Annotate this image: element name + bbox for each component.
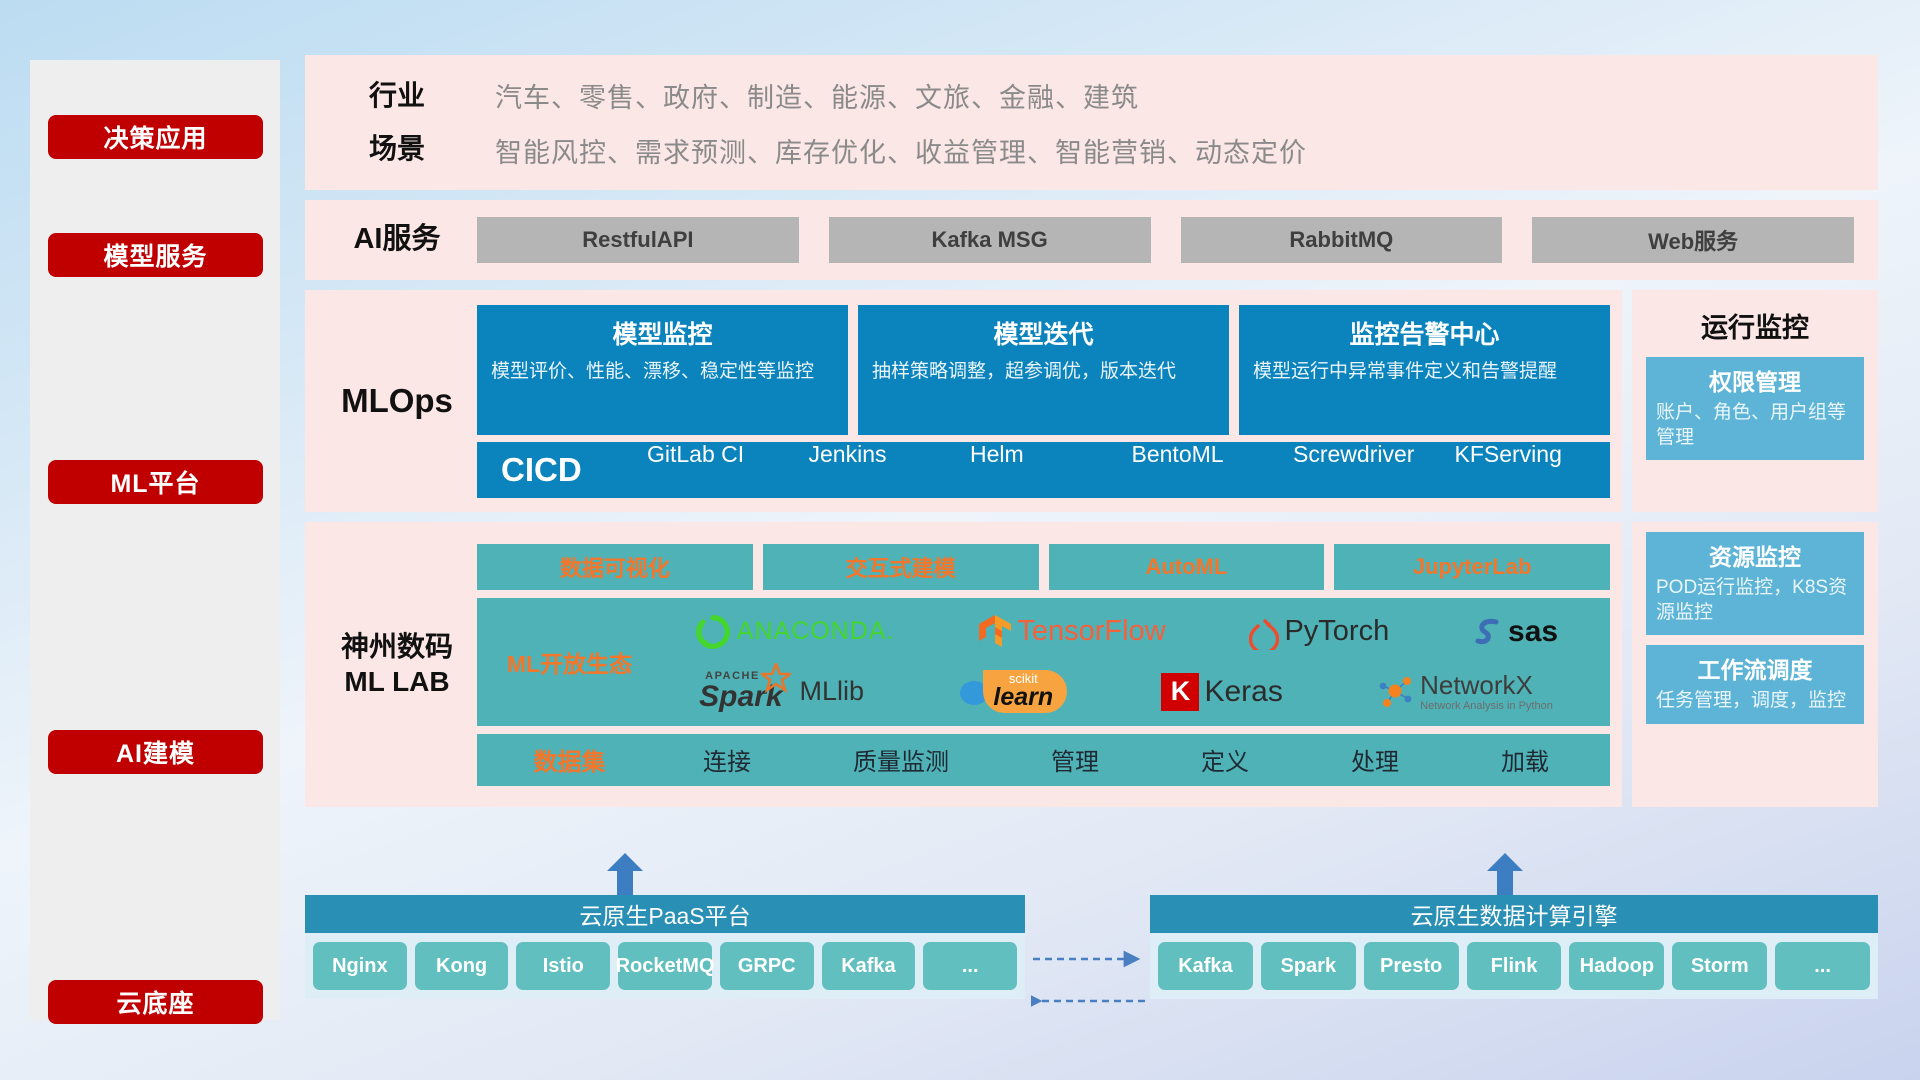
tool-chip-jupyterlab[interactable]: JupyterLab bbox=[1334, 544, 1610, 590]
dataset-item-load[interactable]: 加载 bbox=[1501, 742, 1549, 777]
ai-chip-web-service[interactable]: Web服务 bbox=[1532, 217, 1854, 263]
tool-chip-data-visualization[interactable]: 数据可视化 bbox=[477, 544, 753, 590]
monitoring-panel: 运行监控 权限管理 账户、角色、用户组等管理 bbox=[1632, 290, 1878, 512]
sas-wordmark: sas bbox=[1508, 615, 1558, 649]
industry-scenario-labels: 行业 场景 bbox=[317, 79, 477, 166]
arrow-up-to-platform-icon bbox=[1485, 853, 1525, 897]
ai-service-band: AI服务 RestfulAPI Kafka MSG RabbitMQ Web服务 bbox=[305, 200, 1878, 280]
ml-logo-line-2: APACHE Spark MLlib bbox=[652, 663, 1600, 721]
rail-chip-cloud-base[interactable]: 云底座 bbox=[48, 980, 263, 1024]
tensorflow-logo: TensorFlow bbox=[978, 613, 1165, 651]
cloud-chip-kong[interactable]: Kong bbox=[415, 942, 509, 990]
ml-ecosystem-row: ML开放生态 ANACONDA. bbox=[477, 598, 1610, 726]
cloud-chip-spark[interactable]: Spark bbox=[1261, 942, 1356, 990]
industry-value: 汽车、零售、政府、制造、能源、文旅、金融、建筑 bbox=[495, 76, 1866, 115]
anaconda-logo: ANACONDA. bbox=[694, 613, 895, 651]
mlops-card-desc: 抽样策略调整，超参调优，版本迭代 bbox=[872, 359, 1215, 384]
monitoring-card-workflow[interactable]: 工作流调度 任务管理，调度，监控 bbox=[1646, 645, 1864, 724]
mlops-card-alert-center[interactable]: 监控告警中心 模型运行中异常事件定义和告警提醒 bbox=[1239, 305, 1610, 435]
mlops-card-desc: 模型评价、性能、漂移、稳定性等监控 bbox=[491, 359, 834, 384]
keras-wordmark: Keras bbox=[1204, 675, 1282, 709]
dataset-row: 数据集 连接 质量监测 管理 定义 处理 加载 bbox=[477, 734, 1610, 786]
networkx-graph-icon bbox=[1377, 674, 1415, 710]
sas-logo: sas bbox=[1473, 615, 1558, 649]
cloud-chip-more[interactable]: ... bbox=[923, 942, 1017, 990]
mlops-card-title: 模型监控 bbox=[491, 315, 834, 351]
spark-mllib-logo: APACHE Spark MLlib bbox=[699, 671, 864, 712]
monitoring-card-title: 权限管理 bbox=[1656, 363, 1854, 397]
modeling-label: 神州数码 ML LAB bbox=[317, 630, 477, 699]
mllib-wordmark: MLlib bbox=[800, 676, 865, 707]
cicd-item-jenkins[interactable]: Jenkins bbox=[803, 442, 965, 498]
cloud-data-engine-chip-list: Kafka Spark Presto Flink Hadoop Storm ..… bbox=[1150, 933, 1878, 999]
industry-scenario-values: 汽车、零售、政府、制造、能源、文旅、金融、建筑 智能风控、需求预测、库存优化、收… bbox=[477, 76, 1866, 170]
dataset-label: 数据集 bbox=[487, 742, 652, 777]
ai-chip-restfulapi[interactable]: RestfulAPI bbox=[477, 217, 799, 263]
scenario-value: 智能风控、需求预测、库存优化、收益管理、智能营销、动态定价 bbox=[495, 131, 1866, 170]
anaconda-wordmark: ANACONDA. bbox=[737, 617, 895, 646]
monitoring-card-title: 工作流调度 bbox=[1656, 651, 1854, 685]
dataset-item-process[interactable]: 处理 bbox=[1351, 742, 1399, 777]
cicd-item-helm[interactable]: Helm bbox=[964, 442, 1126, 498]
cloud-chip-kafka-data[interactable]: Kafka bbox=[1158, 942, 1253, 990]
pytorch-wordmark: PyTorch bbox=[1284, 615, 1389, 648]
cicd-item-screwdriver[interactable]: Screwdriver bbox=[1287, 442, 1449, 498]
cloud-data-engine-title: 云原生数据计算引擎 bbox=[1150, 895, 1878, 933]
keras-mark-icon: K bbox=[1161, 673, 1199, 711]
cloud-data-engine-group: 云原生数据计算引擎 Kafka Spark Presto Flink Hadoo… bbox=[1150, 895, 1878, 999]
tensorflow-icon bbox=[978, 613, 1012, 651]
mlops-label: MLOps bbox=[317, 381, 477, 422]
rail-chip-ml-platform[interactable]: ML平台 bbox=[48, 460, 263, 504]
mlops-row: MLOps 模型监控 模型评价、性能、漂移、稳定性等监控 模型迭代 抽样策略调整… bbox=[305, 290, 1878, 512]
cloud-paas-title: 云原生PaaS平台 bbox=[305, 895, 1025, 933]
cicd-bar: CICD GitLab CI Jenkins Helm BentoML Scre… bbox=[477, 442, 1610, 498]
bidirectional-dashed-connector bbox=[1031, 947, 1147, 1013]
ai-service-chip-list: RestfulAPI Kafka MSG RabbitMQ Web服务 bbox=[477, 217, 1866, 263]
cloud-chip-storm[interactable]: Storm bbox=[1672, 942, 1767, 990]
ai-service-label: AI服务 bbox=[317, 222, 477, 258]
industry-scenario-band: 行业 场景 汽车、零售、政府、制造、能源、文旅、金融、建筑 智能风控、需求预测、… bbox=[305, 55, 1878, 190]
cloud-chip-kafka[interactable]: Kafka bbox=[822, 942, 916, 990]
modeling-label-line2: ML LAB bbox=[317, 665, 477, 700]
dataset-item-connect[interactable]: 连接 bbox=[703, 742, 751, 777]
dataset-item-list: 连接 质量监测 管理 定义 处理 加载 bbox=[652, 742, 1600, 777]
tool-chip-automl[interactable]: AutoML bbox=[1049, 544, 1325, 590]
monitoring-card-resource[interactable]: 资源监控 POD运行监控，K8S资源监控 bbox=[1646, 532, 1864, 635]
architecture-main: 行业 场景 汽车、零售、政府、制造、能源、文旅、金融、建筑 智能风控、需求预测、… bbox=[305, 55, 1878, 807]
monitoring-title: 运行监控 bbox=[1646, 300, 1864, 347]
layer-rail: 决策应用 模型服务 ML平台 AI建模 云底座 bbox=[30, 60, 280, 1020]
mlops-stack: 模型监控 模型评价、性能、漂移、稳定性等监控 模型迭代 抽样策略调整，超参调优，… bbox=[477, 305, 1610, 498]
keras-logo: K Keras bbox=[1161, 673, 1282, 711]
cicd-item-list: GitLab CI Jenkins Helm BentoML Screwdriv… bbox=[641, 442, 1610, 498]
monitoring-card-desc: 账户、角色、用户组等管理 bbox=[1656, 401, 1854, 450]
ml-ecosystem-label: ML开放生态 bbox=[487, 645, 652, 679]
ml-logo-line-1: ANACONDA. TensorFlow bbox=[652, 603, 1600, 661]
cicd-item-kfserving[interactable]: KFServing bbox=[1449, 442, 1611, 498]
mlops-card-title: 模型迭代 bbox=[872, 315, 1215, 351]
mlops-card-iteration[interactable]: 模型迭代 抽样策略调整，超参调优，版本迭代 bbox=[858, 305, 1229, 435]
mlops-card-list: 模型监控 模型评价、性能、漂移、稳定性等监控 模型迭代 抽样策略调整，超参调优，… bbox=[477, 305, 1610, 435]
scenario-label: 场景 bbox=[369, 132, 425, 167]
ml-logo-grid: ANACONDA. TensorFlow bbox=[652, 603, 1600, 721]
networkx-logo: NetworkX Network Analysis in Python bbox=[1377, 671, 1553, 712]
cloud-chip-more-data[interactable]: ... bbox=[1775, 942, 1870, 990]
monitoring-card-desc: 任务管理，调度，监控 bbox=[1656, 689, 1854, 714]
networkx-wordmark: NetworkX bbox=[1420, 671, 1533, 700]
rail-chip-model-service[interactable]: 模型服务 bbox=[48, 233, 263, 277]
dataset-item-manage[interactable]: 管理 bbox=[1051, 742, 1099, 777]
cloud-paas-group: 云原生PaaS平台 Nginx Kong Istio RocketMQ GRPC… bbox=[305, 895, 1025, 999]
sas-icon bbox=[1473, 616, 1503, 648]
spark-star-icon bbox=[761, 663, 791, 693]
modeling-row: 神州数码 ML LAB 数据可视化 交互式建模 AutoML JupyterLa… bbox=[305, 522, 1878, 807]
modeling-stack: 数据可视化 交互式建模 AutoML JupyterLab ML开放生态 bbox=[477, 544, 1610, 786]
modeling-band: 神州数码 ML LAB 数据可视化 交互式建模 AutoML JupyterLa… bbox=[305, 522, 1622, 807]
keras-mark-letter: K bbox=[1171, 676, 1191, 707]
cicd-item-bentoml[interactable]: BentoML bbox=[1126, 442, 1288, 498]
cloud-chip-hadoop[interactable]: Hadoop bbox=[1569, 942, 1664, 990]
rail-chip-ai-modeling[interactable]: AI建模 bbox=[48, 730, 263, 774]
anaconda-icon bbox=[694, 613, 732, 651]
monitoring-card-permission[interactable]: 权限管理 账户、角色、用户组等管理 bbox=[1646, 357, 1864, 460]
cloud-base-zone: 云原生PaaS平台 Nginx Kong Istio RocketMQ GRPC… bbox=[305, 855, 1878, 1040]
pytorch-logo: PyTorch bbox=[1249, 614, 1389, 650]
tool-chip-interactive-modeling[interactable]: 交互式建模 bbox=[763, 544, 1039, 590]
monitoring-card-desc: POD运行监控，K8S资源监控 bbox=[1656, 576, 1854, 625]
cloud-chip-istio[interactable]: Istio bbox=[516, 942, 610, 990]
pytorch-icon bbox=[1249, 614, 1279, 650]
cicd-item-gitlab-ci[interactable]: GitLab CI bbox=[641, 442, 803, 498]
scikit-learn-logo: scikit learn bbox=[958, 670, 1067, 713]
networkx-tagline: Network Analysis in Python bbox=[1420, 700, 1553, 712]
arrow-up-to-modeling-icon bbox=[605, 853, 645, 897]
rail-chip-decision[interactable]: 决策应用 bbox=[48, 115, 263, 159]
ai-chip-kafka-msg[interactable]: Kafka MSG bbox=[829, 217, 1151, 263]
cloud-chip-rocketmq[interactable]: RocketMQ bbox=[618, 942, 712, 990]
monitoring-panel-lower: 资源监控 POD运行监控，K8S资源监控 工作流调度 任务管理，调度，监控 bbox=[1632, 522, 1878, 807]
ai-chip-rabbitmq[interactable]: RabbitMQ bbox=[1181, 217, 1503, 263]
mlops-card-title: 监控告警中心 bbox=[1253, 315, 1596, 351]
mlops-band: MLOps 模型监控 模型评价、性能、漂移、稳定性等监控 模型迭代 抽样策略调整… bbox=[305, 290, 1622, 512]
cloud-chip-presto[interactable]: Presto bbox=[1364, 942, 1459, 990]
modeling-tool-list: 数据可视化 交互式建模 AutoML JupyterLab bbox=[477, 544, 1610, 590]
tensorflow-wordmark: TensorFlow bbox=[1017, 615, 1165, 648]
cicd-title: CICD bbox=[501, 451, 641, 489]
learn-wordmark: learn bbox=[993, 685, 1053, 710]
mlops-card-monitoring[interactable]: 模型监控 模型评价、性能、漂移、稳定性等监控 bbox=[477, 305, 848, 435]
cloud-chip-flink[interactable]: Flink bbox=[1467, 942, 1562, 990]
cloud-chip-grpc[interactable]: GRPC bbox=[720, 942, 814, 990]
modeling-label-line1: 神州数码 bbox=[317, 630, 477, 665]
monitoring-card-title: 资源监控 bbox=[1656, 538, 1854, 572]
cloud-chip-nginx[interactable]: Nginx bbox=[313, 942, 407, 990]
dataset-item-define[interactable]: 定义 bbox=[1201, 742, 1249, 777]
cloud-paas-chip-list: Nginx Kong Istio RocketMQ GRPC Kafka ... bbox=[305, 933, 1025, 999]
dataset-item-quality[interactable]: 质量监测 bbox=[853, 742, 949, 777]
industry-label: 行业 bbox=[369, 79, 425, 114]
mlops-card-desc: 模型运行中异常事件定义和告警提醒 bbox=[1253, 359, 1596, 384]
